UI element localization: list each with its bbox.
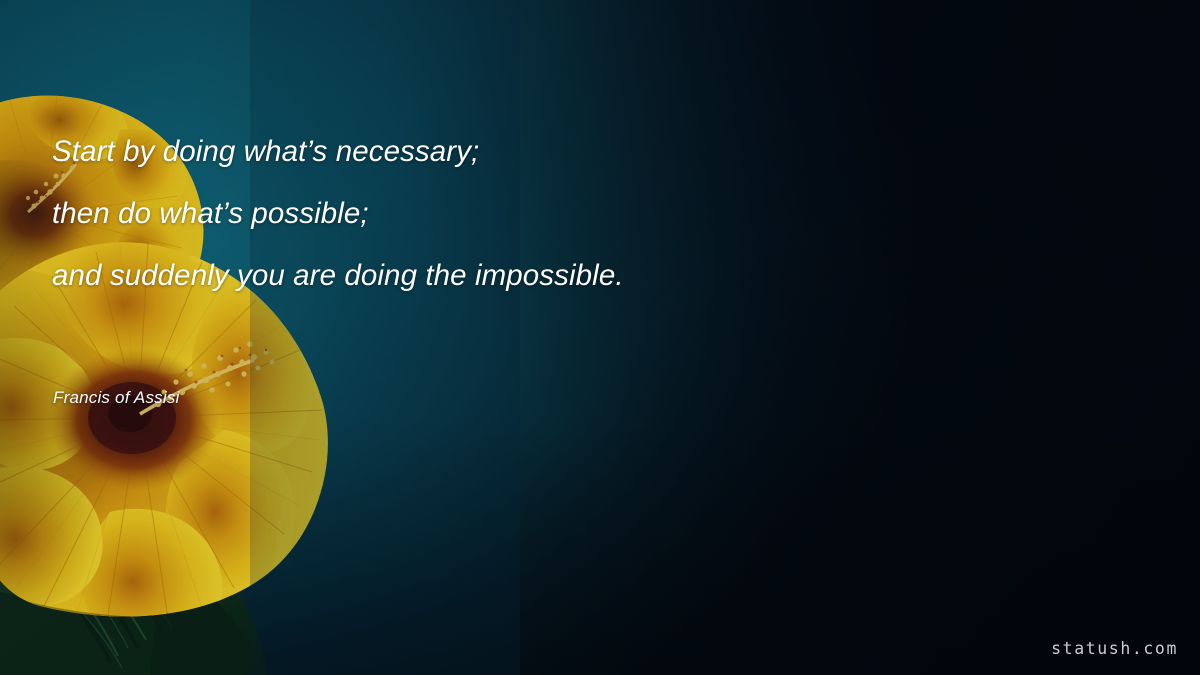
quote-block: Start by doing what’s necessary; then do… (52, 121, 952, 307)
site-watermark: statush.com (1051, 639, 1178, 658)
quote-card: Start by doing what’s necessary; then do… (0, 0, 1200, 675)
quote-line-2: then do what’s possible; (52, 183, 952, 245)
hibiscus-flower-artwork (0, 0, 520, 675)
quote-line-1: Start by doing what’s necessary; (52, 121, 952, 183)
quote-author: Francis of Assisi (53, 388, 180, 408)
quote-line-3: and suddenly you are doing the impossibl… (52, 245, 952, 307)
